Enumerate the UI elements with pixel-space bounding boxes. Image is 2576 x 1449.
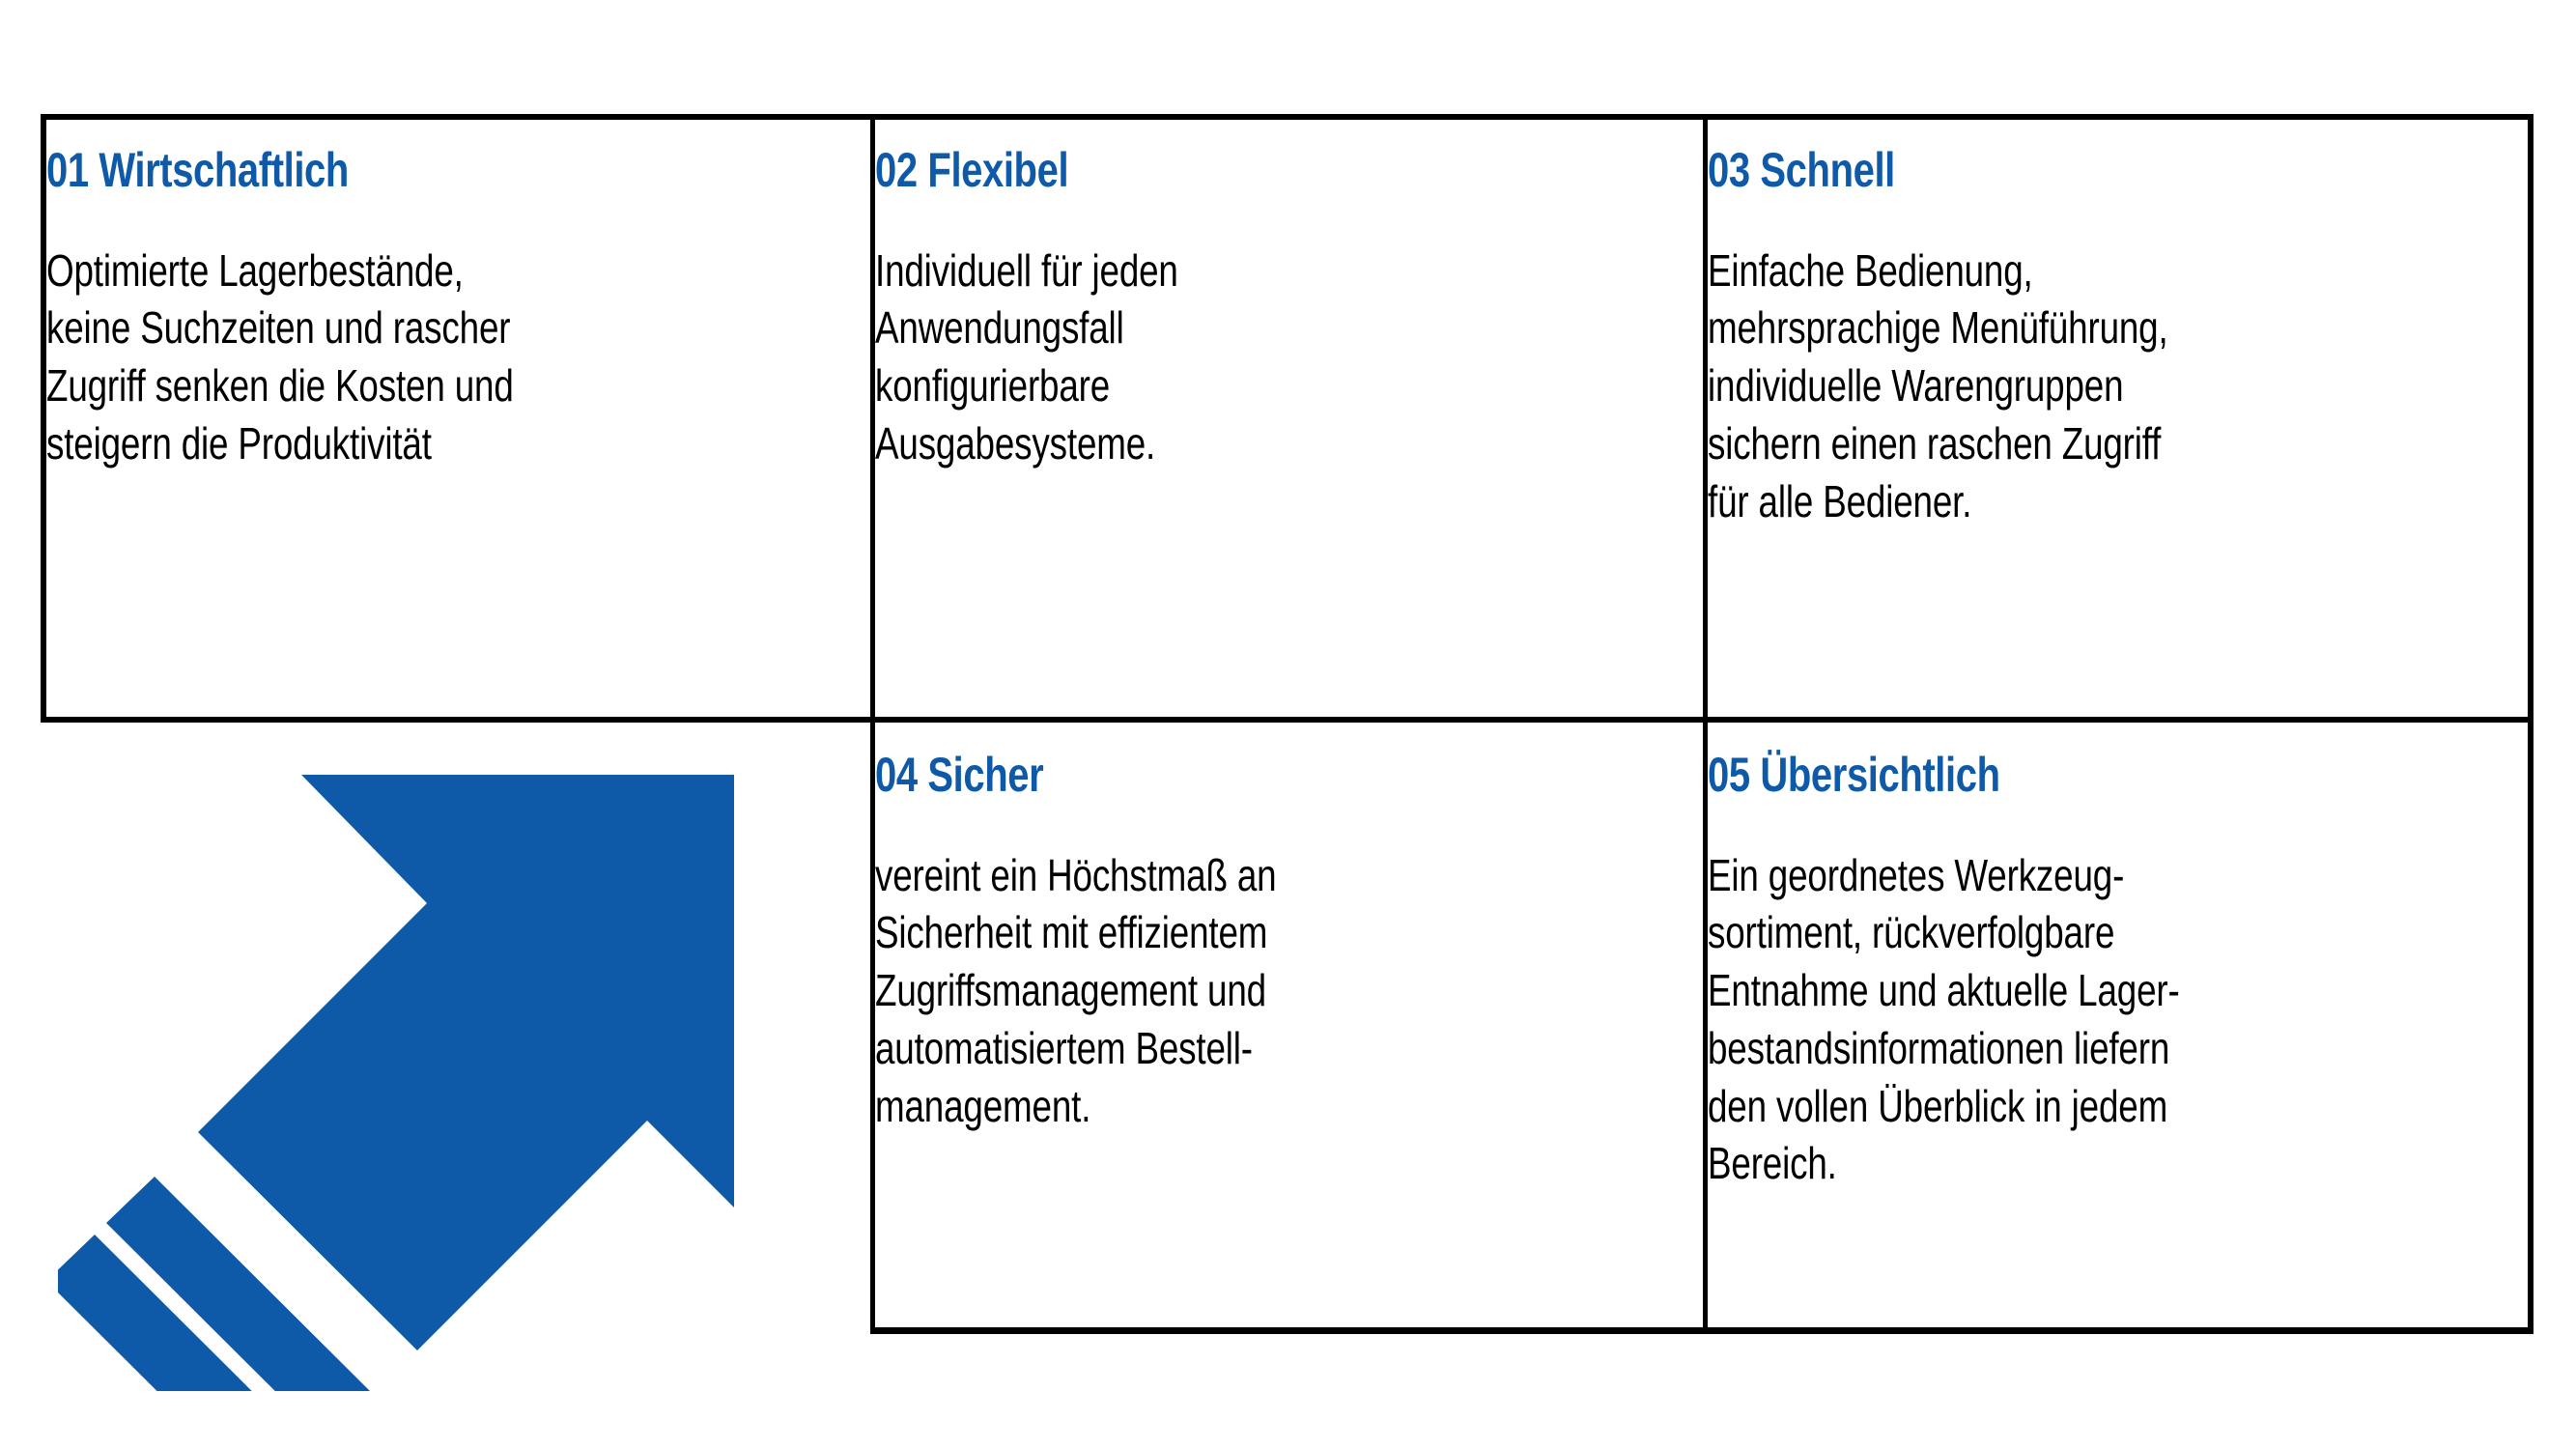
feature-cell-03: 03 Schnell Einfache Bedienung, mehrsprac… bbox=[1708, 145, 2519, 530]
spacer bbox=[875, 801, 1686, 847]
feature-cell-02: 02 Flexibel Individuell für jeden Anwend… bbox=[875, 145, 1686, 473]
feature-body-03: Einfache Bedienung, mehrsprachige Menüfü… bbox=[1708, 242, 2519, 531]
feature-body-04: vereint ein Höchstmaß an Sicherheit mit … bbox=[875, 847, 1686, 1136]
spacer bbox=[1708, 801, 2519, 847]
feature-body-01: Optimierte Lagerbestände, keine Suchzeit… bbox=[46, 242, 858, 473]
feature-cell-01: 01 Wirtschaftlich Optimierte Lagerbestän… bbox=[46, 145, 858, 473]
feature-cell-05: 05 Übersichtlich Ein geordnetes Werkzeug… bbox=[1708, 750, 2519, 1193]
infographic-canvas: 01 Wirtschaftlich Optimierte Lagerbestän… bbox=[0, 0, 2576, 1449]
feature-cell-04: 04 Sicher vereint ein Höchstmaß an Siche… bbox=[875, 750, 1686, 1135]
feature-heading-04: 04 Sicher bbox=[875, 750, 1524, 801]
feature-heading-03: 03 Schnell bbox=[1708, 145, 2357, 196]
table-right-border bbox=[2528, 114, 2534, 1334]
spacer bbox=[875, 196, 1686, 242]
feature-heading-02: 02 Flexibel bbox=[875, 145, 1524, 196]
feature-body-02: Individuell für jeden Anwendungsfall kon… bbox=[875, 242, 1686, 473]
feature-heading-05: 05 Übersichtlich bbox=[1708, 750, 2357, 801]
spacer bbox=[1708, 196, 2519, 242]
feature-body-05: Ein geordnetes Werkzeug- sortiment, rück… bbox=[1708, 847, 2519, 1194]
spacer bbox=[46, 196, 858, 242]
arrow-shape bbox=[198, 775, 734, 1350]
feature-heading-01: 01 Wirtschaftlich bbox=[46, 145, 695, 196]
table-top-border bbox=[41, 114, 2534, 120]
arrow-up-right-icon bbox=[58, 715, 850, 1391]
